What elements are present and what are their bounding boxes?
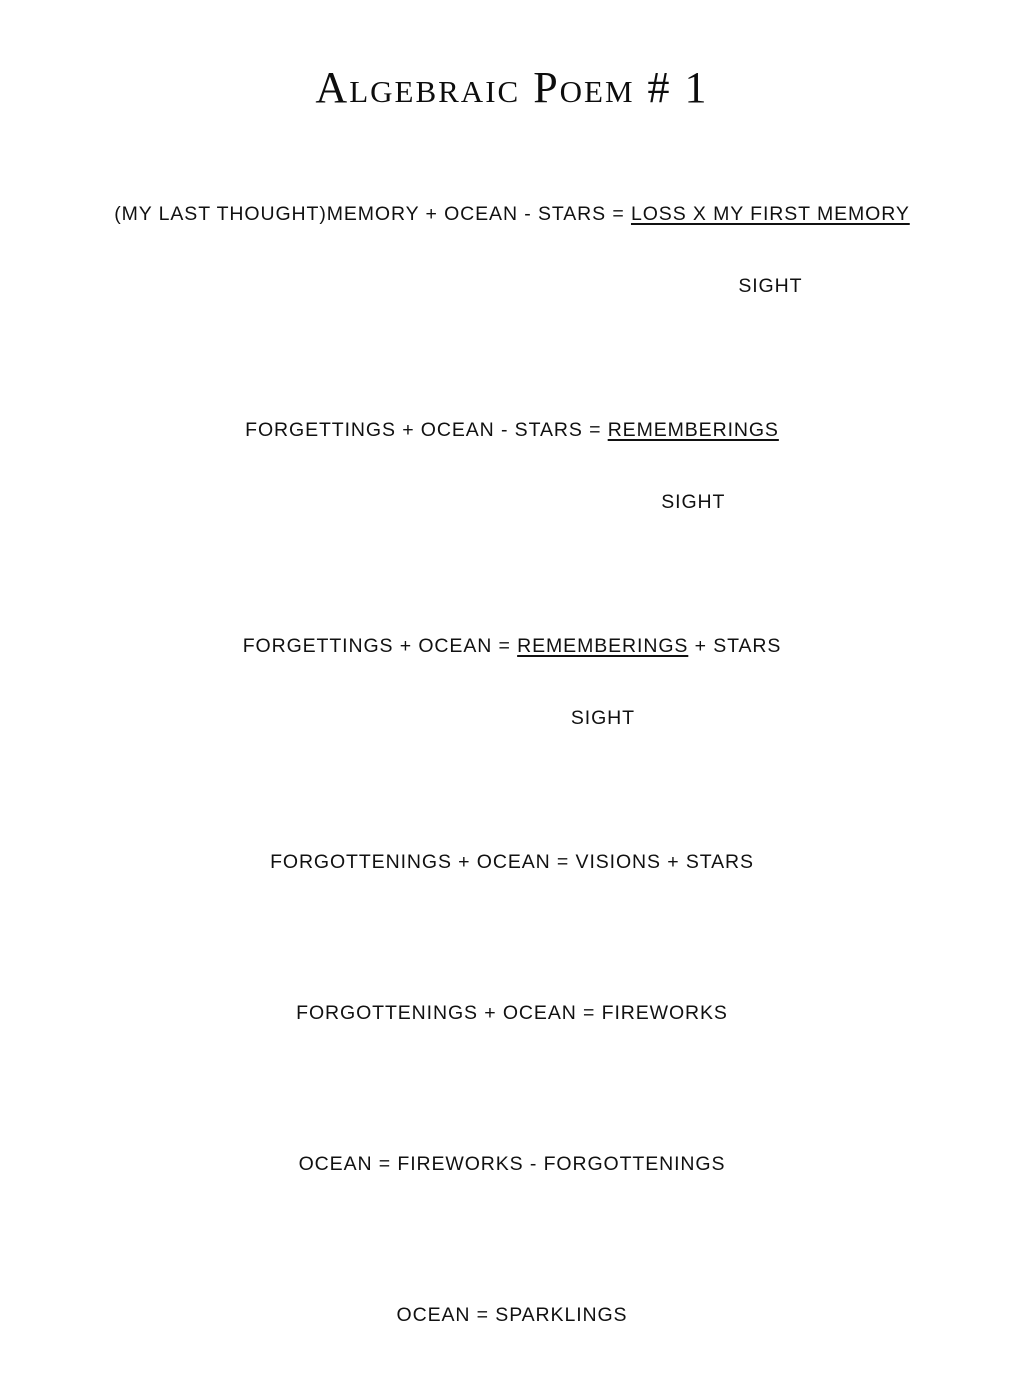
fraction-denominator-row: (MY LAST THOUGHT)MEMORY + OCEAN - STARS … xyxy=(0,273,1024,299)
poem-body: (MY LAST THOUGHT)MEMORY + OCEAN - STARS … xyxy=(0,155,1024,1374)
equation-expression: FORGETTINGS + OCEAN - STARS = REMEMBERIN… xyxy=(0,417,1024,443)
equation-line: FORGOTTENINGS + OCEAN = VISIONS + STARS xyxy=(0,803,1024,921)
fraction-denominator-row: FORGETTINGS + OCEAN = SIGHT + STARS xyxy=(0,705,1024,731)
fraction-numerator: REMEMBERINGS xyxy=(608,419,779,441)
fraction-numerator: REMEMBERINGS xyxy=(517,635,688,657)
equation-line: FORGETTINGS + OCEAN - STARS = REMEMBERIN… xyxy=(0,371,1024,561)
equation-expression: FORGOTTENINGS + OCEAN = VISIONS + STARS xyxy=(0,849,1024,875)
equation-prefix: (MY LAST THOUGHT)MEMORY + OCEAN - STARS … xyxy=(114,203,631,225)
equation-expression: OCEAN = FIREWORKS - FORGOTTENINGS xyxy=(0,1151,1024,1177)
equation-expression: FORGOTTENINGS + OCEAN = FIREWORKS xyxy=(0,1000,1024,1026)
equation-suffix: + STARS xyxy=(688,635,781,657)
fraction-denominator: SIGHT xyxy=(738,275,802,297)
equation-line: OCEAN = FIREWORKS - FORGOTTENINGS xyxy=(0,1105,1024,1223)
equation-expression: FORGETTINGS + OCEAN = REMEMBERINGS + STA… xyxy=(0,633,1024,659)
fraction-numerator: LOSS X MY FIRST MEMORY xyxy=(631,203,910,225)
equation-expression: OCEAN = SPARKLINGS xyxy=(0,1302,1024,1328)
equation-prefix: FORGETTINGS + OCEAN = xyxy=(243,635,517,657)
equation-prefix: FORGETTINGS + OCEAN - STARS = xyxy=(245,419,608,441)
poem-page: Algebraic Poem # 1 (MY LAST THOUGHT)MEMO… xyxy=(0,0,1024,791)
page-title: Algebraic Poem # 1 xyxy=(0,62,1024,113)
fraction-denominator: SIGHT xyxy=(661,491,725,513)
equation-line: (MY LAST THOUGHT)MEMORY + OCEAN - STARS … xyxy=(0,155,1024,345)
fraction-denominator: SIGHT xyxy=(571,707,635,729)
equation-expression: (MY LAST THOUGHT)MEMORY + OCEAN - STARS … xyxy=(0,201,1024,227)
equation-line: FORGETTINGS + OCEAN = REMEMBERINGS + STA… xyxy=(0,587,1024,777)
equation-line: OCEAN = SPARKLINGS xyxy=(0,1256,1024,1374)
fraction-denominator-row: FORGETTINGS + OCEAN - STARS = SIGHT xyxy=(0,489,1024,515)
equation-line: FORGOTTENINGS + OCEAN = FIREWORKS xyxy=(0,954,1024,1072)
